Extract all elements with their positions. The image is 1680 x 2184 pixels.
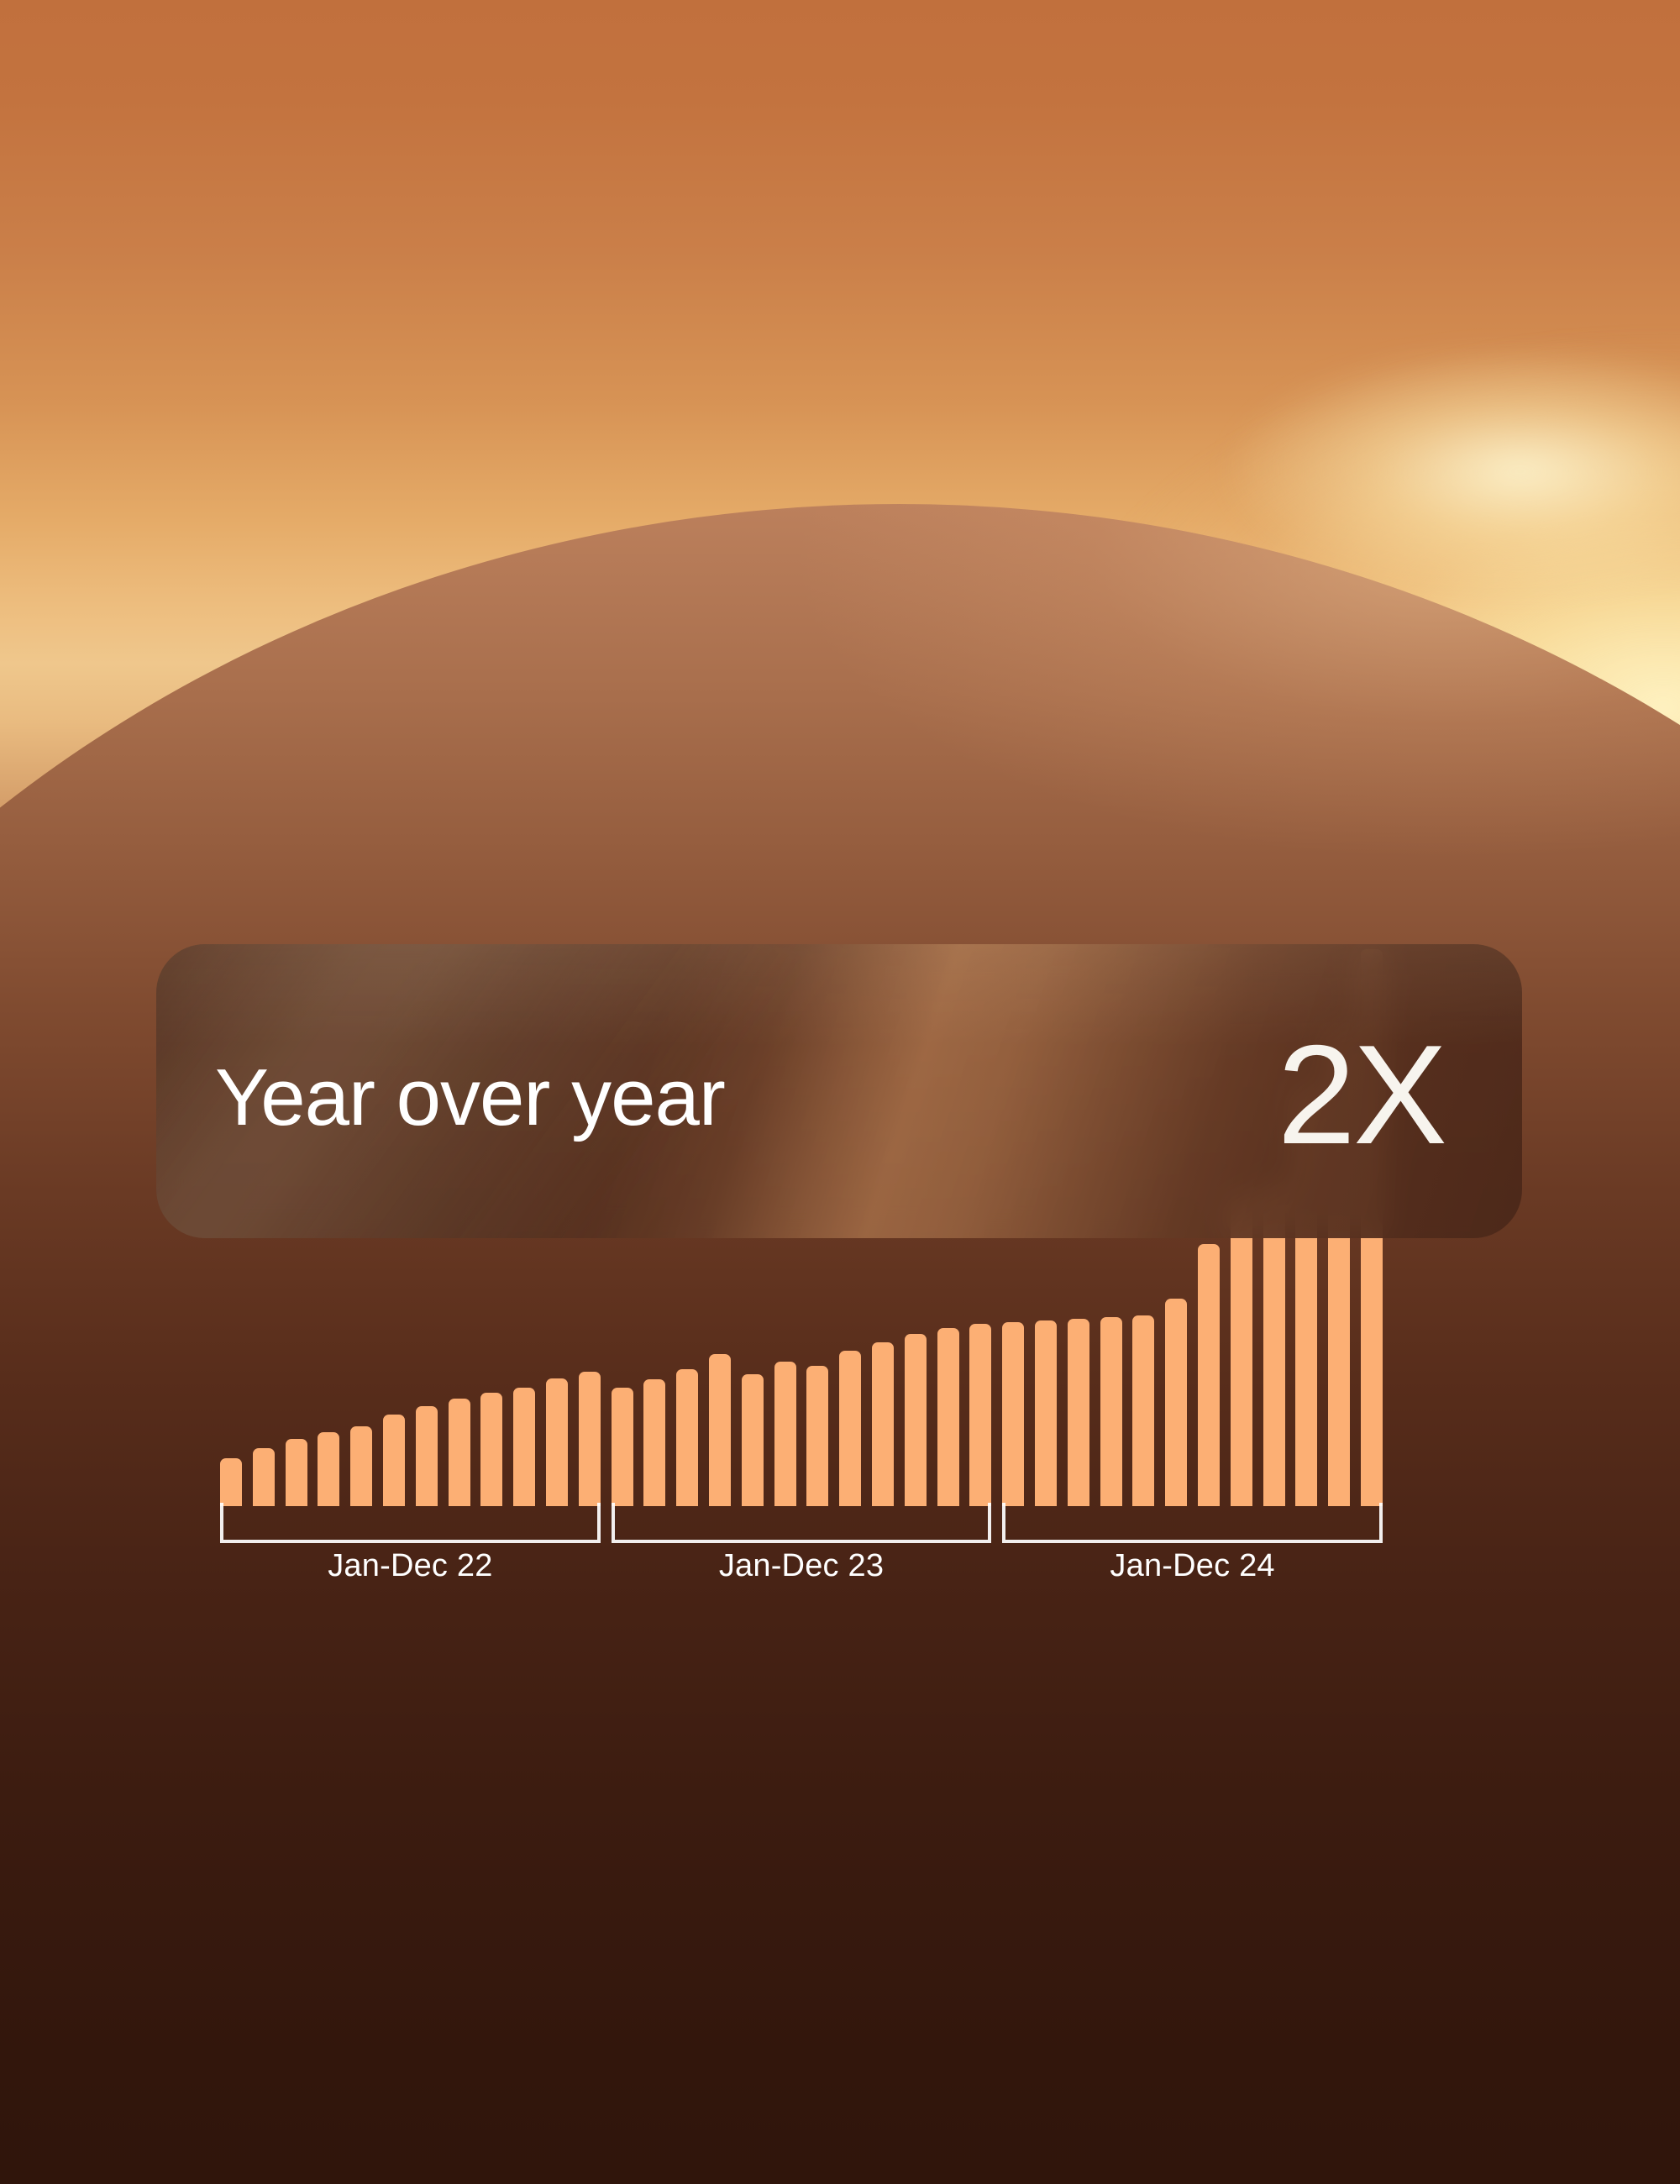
bar-mar-22[interactable] bbox=[286, 1439, 307, 1506]
bar-dec-22[interactable] bbox=[579, 1372, 601, 1506]
axis-label: Jan-Dec 22 bbox=[220, 1548, 601, 1584]
bar-jan-22[interactable] bbox=[220, 1458, 242, 1506]
bar-dec-23[interactable] bbox=[969, 1324, 991, 1506]
bar-may-22[interactable] bbox=[350, 1426, 372, 1506]
bar-nov-22[interactable] bbox=[546, 1378, 568, 1506]
bar-mar-24[interactable] bbox=[1068, 1319, 1089, 1506]
bar-aug-24[interactable] bbox=[1231, 1199, 1252, 1506]
panel-title: Year over year bbox=[215, 1058, 725, 1138]
bar-oct-23[interactable] bbox=[905, 1334, 927, 1506]
metric-value: 2X bbox=[1278, 1024, 1446, 1165]
axis-label: Jan-Dec 23 bbox=[612, 1548, 992, 1584]
bar-mar-23[interactable] bbox=[676, 1369, 698, 1506]
bar-jul-24[interactable] bbox=[1198, 1244, 1220, 1506]
axis-bracket bbox=[612, 1503, 992, 1543]
bar-aug-23[interactable] bbox=[839, 1351, 861, 1506]
bar-apr-22[interactable] bbox=[318, 1432, 339, 1506]
bar-jun-24[interactable] bbox=[1165, 1299, 1187, 1506]
bar-apr-23[interactable] bbox=[709, 1354, 731, 1506]
axis-bracket bbox=[220, 1503, 601, 1543]
bar-nov-23[interactable] bbox=[937, 1328, 959, 1506]
bar-jul-23[interactable] bbox=[806, 1366, 828, 1506]
chart-axis: Jan-Dec 22Jan-Dec 23Jan-Dec 24 bbox=[220, 1503, 1394, 1553]
bar-feb-24[interactable] bbox=[1035, 1320, 1057, 1506]
bar-feb-22[interactable] bbox=[253, 1448, 275, 1506]
bar-jul-22[interactable] bbox=[416, 1406, 438, 1506]
bar-jan-24[interactable] bbox=[1002, 1322, 1024, 1506]
bar-jun-23[interactable] bbox=[774, 1362, 796, 1506]
bar-may-23[interactable] bbox=[742, 1374, 764, 1506]
axis-label: Jan-Dec 24 bbox=[1002, 1548, 1383, 1584]
bar-sep-23[interactable] bbox=[872, 1342, 894, 1506]
bar-jan-23[interactable] bbox=[612, 1388, 633, 1506]
bar-sep-22[interactable] bbox=[480, 1393, 502, 1506]
bar-aug-22[interactable] bbox=[449, 1399, 470, 1506]
bar-apr-24[interactable] bbox=[1100, 1317, 1122, 1506]
poster-canvas: Jan-Dec 22Jan-Dec 23Jan-Dec 24 Year over… bbox=[0, 0, 1680, 2184]
bar-jun-22[interactable] bbox=[383, 1415, 405, 1507]
bar-feb-23[interactable] bbox=[643, 1379, 665, 1506]
panel-content: Year over year 2X bbox=[156, 944, 1522, 1238]
axis-bracket bbox=[1002, 1503, 1383, 1543]
bar-may-24[interactable] bbox=[1132, 1315, 1154, 1506]
bar-oct-22[interactable] bbox=[513, 1388, 535, 1506]
metric-glass-panel[interactable]: Year over year 2X bbox=[156, 944, 1522, 1238]
